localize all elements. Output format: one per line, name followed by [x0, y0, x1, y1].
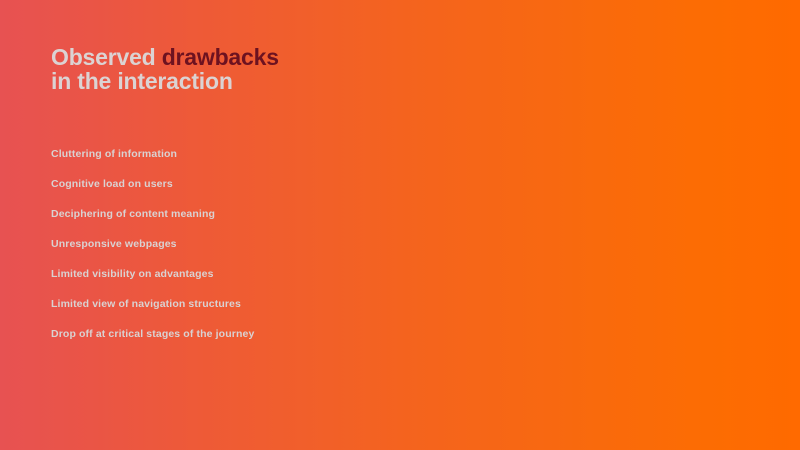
list-item: Deciphering of content meaning: [51, 207, 471, 237]
drawbacks-list: Cluttering of information Cognitive load…: [51, 147, 471, 357]
presentation-slide: Observed drawbacks in the interaction Cl…: [0, 0, 800, 450]
list-item: Cognitive load on users: [51, 177, 471, 207]
title-line-2: in the interaction: [51, 70, 279, 94]
list-item: Cluttering of information: [51, 147, 471, 177]
list-item: Limited visibility on advantages: [51, 267, 471, 297]
title-text-observed: Observed: [51, 44, 162, 70]
title-line-1: Observed drawbacks: [51, 46, 279, 70]
title-text-drawbacks: drawbacks: [162, 44, 279, 70]
list-item: Drop off at critical stages of the journ…: [51, 327, 471, 357]
list-item: Unresponsive webpages: [51, 237, 471, 267]
list-item: Limited view of navigation structures: [51, 297, 471, 327]
page-title: Observed drawbacks in the interaction: [51, 46, 279, 93]
